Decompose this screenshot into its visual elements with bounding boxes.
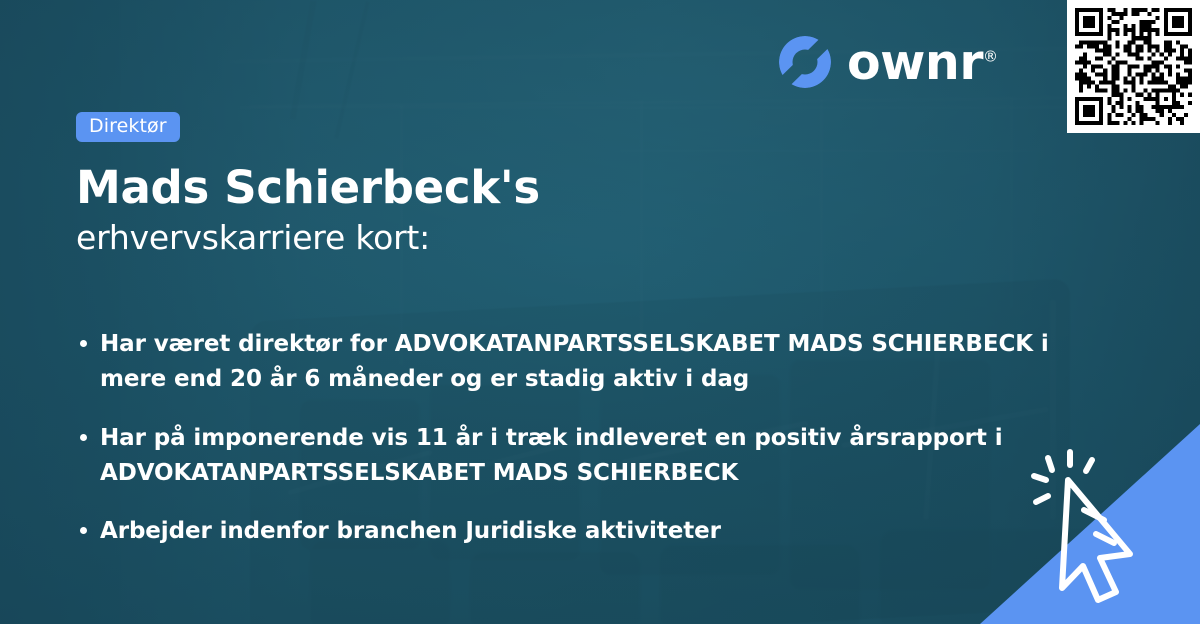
list-item: Har været direktør for ADVOKATANPARTSSEL… [76,327,1076,397]
ownr-wordmark: ownr® [847,38,998,87]
page-subtitle: erhvervskarriere kort: [76,220,1080,257]
registered-trademark-symbol: ® [983,47,998,65]
role-badge: Direktør [76,112,180,142]
ownr-wordmark-text: ownr [847,34,983,91]
ownr-logo[interactable]: ownr® [777,33,998,91]
ownr-circle-logo-icon [777,34,833,90]
qr-code-canvas [1075,8,1192,125]
page-title: Mads Schierbeck's [76,164,1080,212]
qr-code[interactable] [1067,0,1200,133]
card-content: Direktør Mads Schierbeck's erhvervskarri… [76,112,1080,549]
list-item: Arbejder indenfor branchen Juridiske akt… [76,514,1076,549]
facts-list: Har været direktør for ADVOKATANPARTSSEL… [76,327,1080,550]
career-card: ownr® Direktør Mads Schierbeck's erhverv… [0,0,1200,624]
list-item: Har på imponerende vis 11 år i træk indl… [76,421,1076,491]
